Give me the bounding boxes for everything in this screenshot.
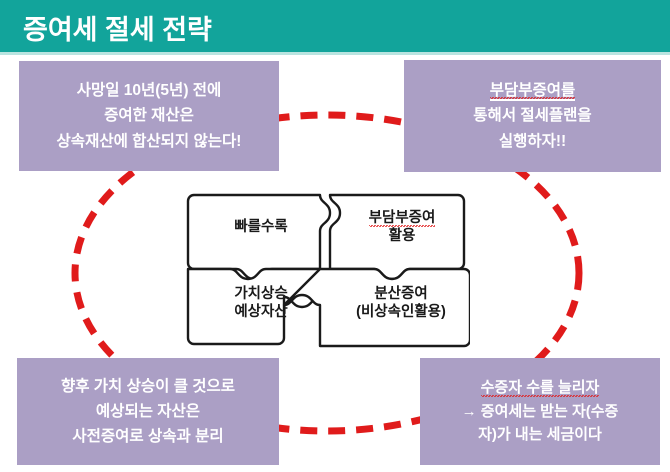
callout-top-right: 부담부증여를 통해서 절세플랜을 실행하자!! (404, 60, 661, 172)
callout-top-left: 사망일 10년(5년) 전에 증여한 재산은 상속재산에 합산되지 않는다! (19, 61, 279, 171)
puzzle-label-split-line-2: (비상속인활용) (336, 304, 466, 322)
callout-bottom-left: 향후 가치 상승이 클 것으로 예상되는 자산은 사전증여로 상속과 분리 (17, 358, 279, 465)
puzzle-label-split-line-1: 분산증여 (336, 286, 466, 304)
callout-bottom-right-line-1: 수증자 수를 늘리자 (481, 376, 600, 400)
callout-bottom-left-line-1: 향후 가치 상승이 클 것으로 (61, 374, 235, 399)
puzzle-label-burden: 부담부증여 활용 (340, 210, 464, 245)
puzzle-label-fast-line-1: 빠를수록 (196, 219, 326, 237)
callout-top-right-line-1-text: 부담부증여를 (490, 82, 576, 101)
puzzle-label-burden-line-2: 활용 (340, 228, 464, 246)
puzzle-label-burden-line-1: 부담부증여 (340, 210, 464, 228)
callout-bottom-right: 수증자 수를 늘리자 → 증여세는 받는 자(수증 자)가 내는 세금이다 (420, 358, 660, 465)
callout-bottom-right-line-1-text: 수증자 수를 늘리자 (481, 379, 600, 397)
callout-top-left-line-1: 사망일 10년(5년) 전에 (77, 78, 222, 103)
puzzle-label-growth-line-2: 예상자산 (196, 304, 326, 322)
puzzle-label-burden-line-1-text: 부담부증여 (369, 210, 436, 227)
callout-top-right-line-2: 통해서 절세플랜을 (473, 103, 591, 128)
callout-bottom-left-line-3: 사전증여로 상속과 분리 (72, 424, 223, 449)
callout-top-left-line-3: 상속재산에 합산되지 않는다! (57, 129, 242, 154)
puzzle-label-fast: 빠를수록 (196, 219, 326, 237)
puzzle-label-growth: 가치상승 예상자산 (196, 286, 326, 321)
puzzle-label-growth-line-1: 가치상승 (196, 286, 326, 304)
callout-bottom-left-line-2: 예상되는 자산은 (96, 399, 200, 424)
callout-bottom-right-line-2: → 증여세는 받는 자(수증 (462, 400, 619, 424)
puzzle-piece-fast[interactable] (188, 195, 330, 279)
callout-top-right-line-3: 실행하자!! (499, 129, 566, 154)
puzzle-label-split: 분산증여 (비상속인활용) (336, 286, 466, 321)
slide-canvas: 증여세 절세 전략 사망일 10년(5년) 전에 증여한 재산은 상속재산에 합… (0, 0, 670, 472)
callout-bottom-right-line-3: 자)가 내는 세금이다 (478, 423, 602, 447)
callout-top-left-line-2: 증여한 재산은 (104, 103, 194, 128)
callout-top-right-line-1: 부담부증여를 (490, 78, 576, 103)
